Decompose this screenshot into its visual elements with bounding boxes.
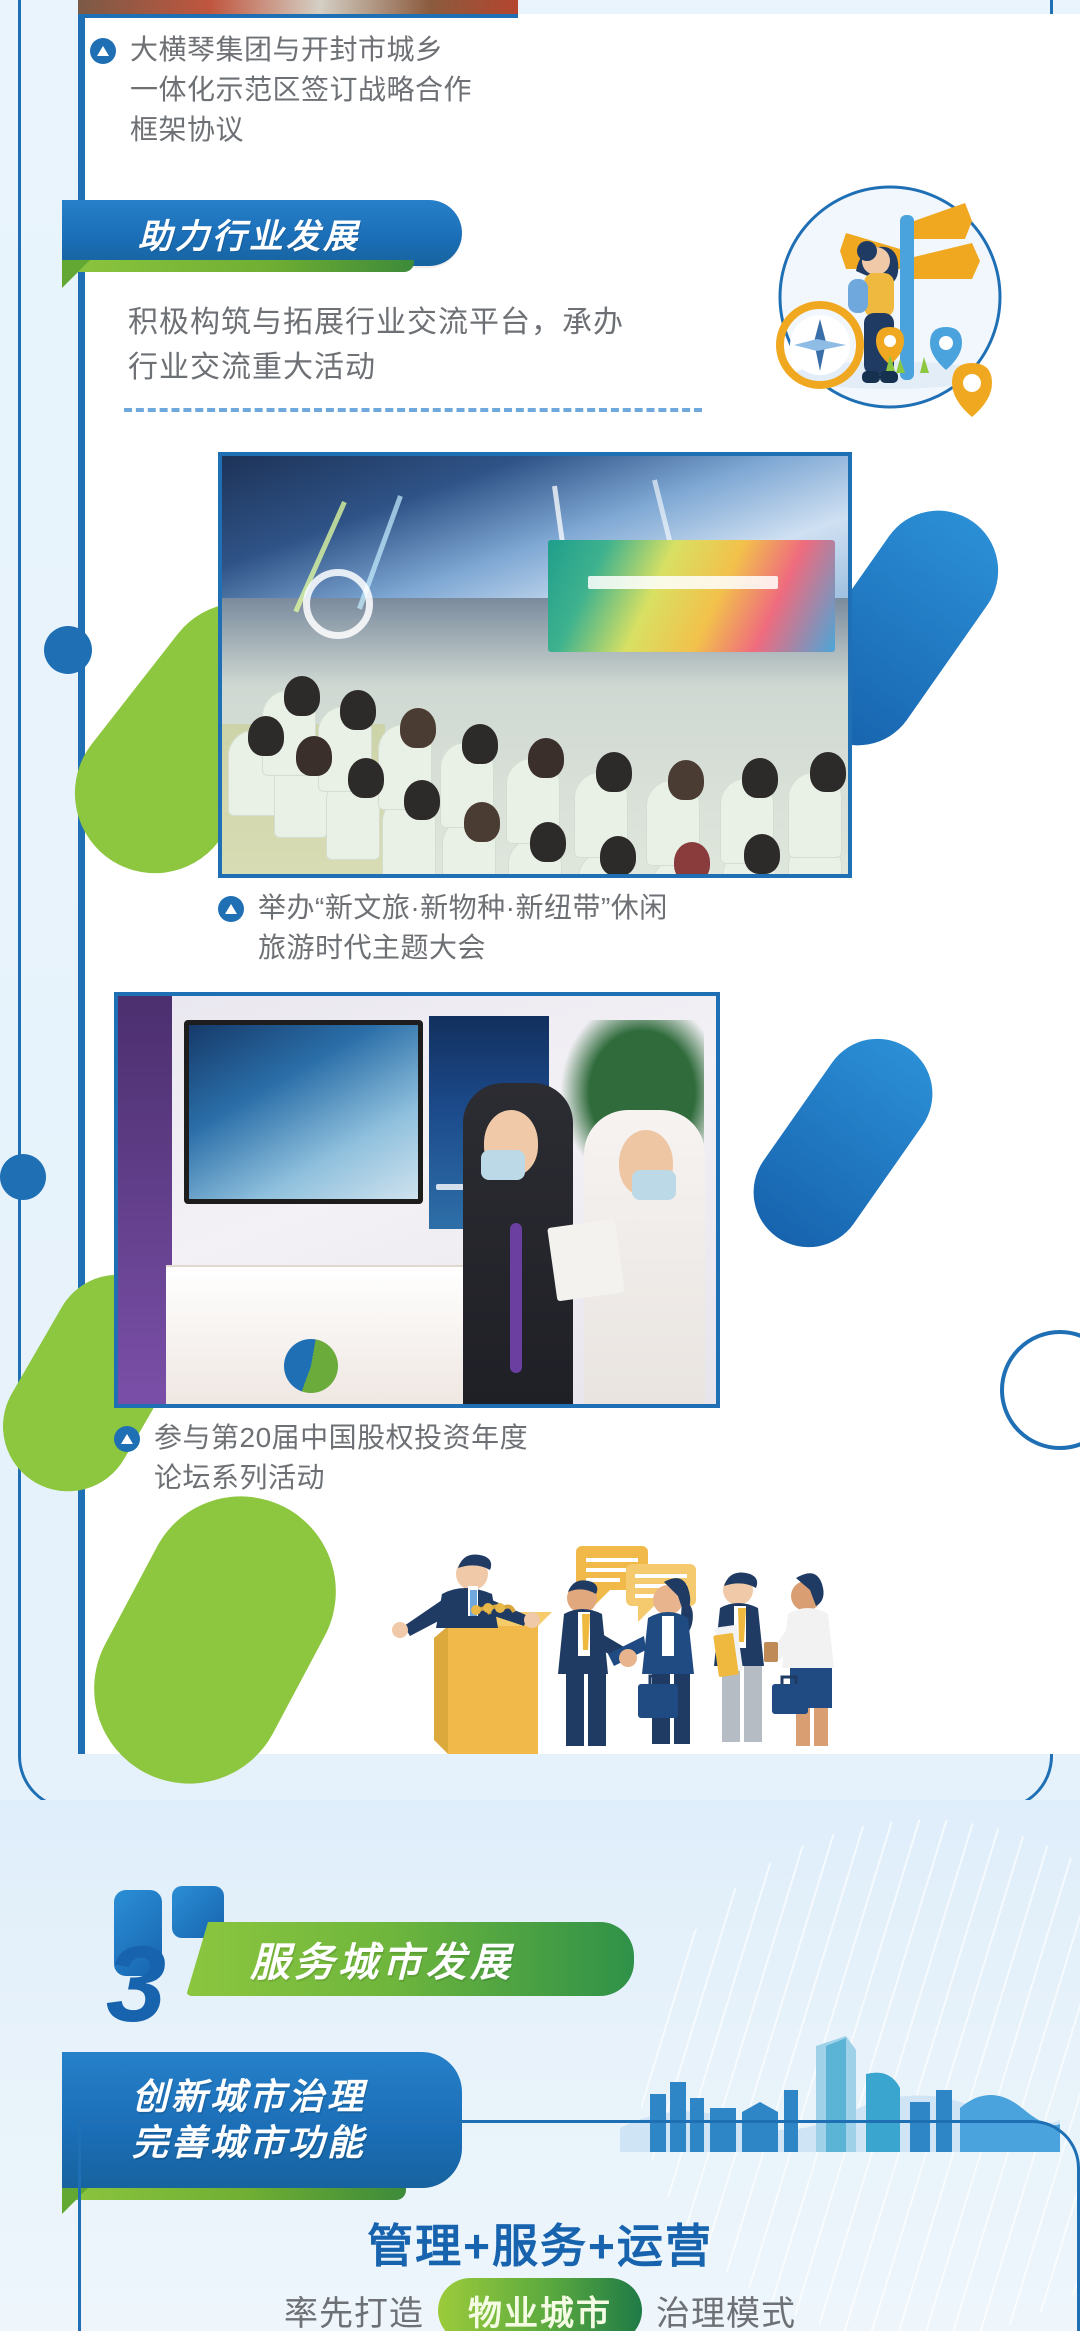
triangle-bullet-icon	[218, 896, 244, 922]
company-logo-icon	[284, 1339, 338, 1393]
blue-dot-decoration-2	[0, 1154, 46, 1200]
caption-conference: 举办“新文旅·新物种·新纽带”休闲 旅游时代主题大会	[218, 888, 818, 968]
caption-conference-text: 举办“新文旅·新物种·新纽带”休闲 旅游时代主题大会	[258, 888, 668, 968]
triangle-bullet-icon	[114, 1426, 140, 1452]
business-people-illustration	[376, 1516, 846, 1756]
brochure	[547, 1219, 625, 1301]
audience-chairs	[222, 632, 848, 874]
hall-wall-logo	[303, 569, 373, 639]
city-section: 3 服务城市发展	[0, 1800, 1080, 2331]
lanyard-strap	[510, 1223, 522, 1373]
triangle-bullet-icon	[90, 38, 116, 64]
booth-visitors	[447, 1069, 710, 1404]
booth-photo-content	[118, 996, 716, 1404]
infographic-page: 大横琴集团与开封市城乡 一体化示范区签订战略合作 框架协议 助力行业发展	[0, 0, 1080, 2331]
caption-agreement: 大横琴集团与开封市城乡 一体化示范区签订战略合作 框架协议	[90, 30, 610, 149]
conference-photo-content	[222, 456, 848, 874]
left-blue-rail	[78, 14, 85, 1754]
booth-side-wall	[118, 996, 172, 1404]
bottom-blue-frame	[78, 2120, 1080, 2331]
ribbon-body: 助力行业发展	[62, 200, 462, 266]
previous-photo-strip	[78, 0, 518, 18]
industry-section: 大横琴集团与开封市城乡 一体化示范区签订战略合作 框架协议 助力行业发展	[0, 0, 1080, 1800]
face-mask-icon-2	[632, 1170, 676, 1200]
caption-agreement-text: 大横琴集团与开封市城乡 一体化示范区签订战略合作 框架协议	[130, 30, 472, 149]
caption-booth: 参与第20届中国股权投资年度 论坛系列活动	[114, 1418, 674, 1498]
booth-display-screen	[184, 1020, 423, 1204]
ribbon-label: 助力行业发展	[62, 209, 360, 258]
green-banner-city: 服务城市发展	[186, 1922, 634, 1996]
conference-hall-photo	[218, 452, 852, 878]
exhibition-booth-photo	[114, 992, 720, 1408]
caption-booth-text: 参与第20届中国股权投资年度 论坛系列活动	[154, 1418, 528, 1498]
dashed-divider	[124, 408, 702, 412]
ribbon-green-shadow	[62, 260, 414, 272]
industry-paragraph: 积极构筑与拓展行业交流平台，承办 行业交流重大活动	[128, 300, 728, 390]
blue-dot-decoration	[44, 626, 92, 674]
face-mask-icon	[481, 1150, 525, 1180]
traveler-signpost-illustration	[760, 175, 1020, 420]
section-number: 3	[106, 1938, 162, 2030]
ribbon-industry: 助力行业发展	[62, 200, 462, 266]
green-banner-label: 服务城市发展	[186, 1930, 514, 1988]
business-people-svg	[376, 1516, 846, 1756]
blue-banner-line-1: 创新城市治理	[62, 2074, 462, 2120]
traveler-illustration-svg	[760, 175, 1020, 420]
